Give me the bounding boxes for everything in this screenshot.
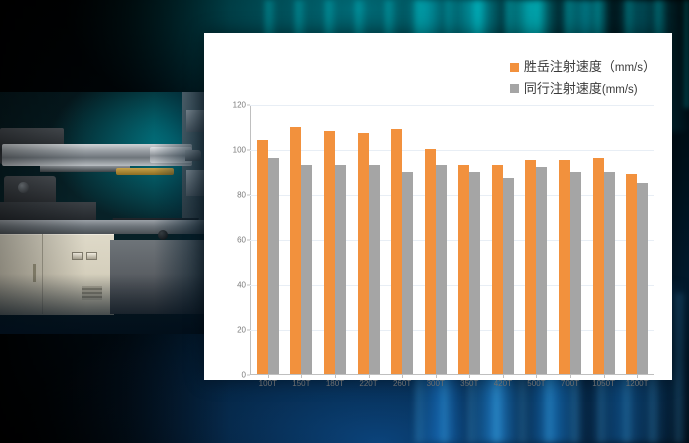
bar-group-container <box>251 105 654 374</box>
x-axis-label: 180T <box>318 379 352 388</box>
x-axis-label: 420T <box>486 379 520 388</box>
y-axis-tick-label: 80 <box>237 191 246 200</box>
bar-series2[interactable] <box>469 172 480 375</box>
bar-series1[interactable] <box>458 165 469 374</box>
bar-group <box>385 105 419 374</box>
bar-group <box>520 105 554 374</box>
bar-group <box>318 105 352 374</box>
chart-legend: 胜岳注射速度（mm/s） 同行注射速度(mm/s) <box>510 60 656 103</box>
bar-group <box>553 105 587 374</box>
x-axis-tick-mark <box>604 374 605 378</box>
bar-series2[interactable] <box>570 172 581 375</box>
bar-series2[interactable] <box>268 158 279 374</box>
y-axis-tick-mark <box>247 150 250 151</box>
legend-label-series-1-unit: mm/s <box>615 62 643 74</box>
legend-label-series-2: 同行注射速度(mm/s) <box>524 82 638 97</box>
legend-label-series-2-unit: (mm/s) <box>602 84 638 96</box>
bar-series2[interactable] <box>335 165 346 374</box>
x-axis-tick-mark <box>469 374 470 378</box>
bar-series1[interactable] <box>559 160 570 374</box>
legend-label-series-1-main: 胜岳注射速度（ <box>524 59 615 74</box>
bar-series2[interactable] <box>301 165 312 374</box>
y-axis-tick-mark <box>247 105 250 106</box>
y-axis-tick-mark <box>247 195 250 196</box>
bar-series1[interactable] <box>492 165 503 374</box>
bar-series2[interactable] <box>503 178 514 374</box>
x-axis-label: 260T <box>385 379 419 388</box>
y-axis-tick-label: 0 <box>242 371 246 380</box>
y-axis-tick-mark <box>247 240 250 241</box>
x-axis-tick-mark <box>301 374 302 378</box>
x-axis-label: 100T <box>251 379 285 388</box>
x-axis-tick-mark <box>335 374 336 378</box>
bar-series2[interactable] <box>604 172 615 375</box>
chart-panel: 胜岳注射速度（mm/s） 同行注射速度(mm/s) 02040608010012… <box>204 33 672 380</box>
x-axis-tick-mark <box>503 374 504 378</box>
bar-group <box>285 105 319 374</box>
bar-group <box>587 105 621 374</box>
x-axis-tick-mark <box>436 374 437 378</box>
x-axis-label: 350T <box>452 379 486 388</box>
bar-group <box>352 105 386 374</box>
bar-series1[interactable] <box>290 127 301 375</box>
x-axis-tick-mark <box>637 374 638 378</box>
x-axis-line <box>250 374 654 375</box>
bar-group <box>486 105 520 374</box>
y-axis-tick-mark <box>247 330 250 331</box>
bar-group <box>419 105 453 374</box>
x-axis-label: 150T <box>285 379 319 388</box>
y-axis-tick-label: 40 <box>237 281 246 290</box>
bar-series1[interactable] <box>324 131 335 374</box>
bar-group <box>620 105 654 374</box>
x-axis-label-group: 100T150T180T220T260T300T350T420T500T700T… <box>251 379 654 388</box>
x-axis-label: 1050T <box>587 379 621 388</box>
x-axis-label: 500T <box>520 379 554 388</box>
y-axis-tick-mark <box>247 375 250 376</box>
slide-stage: 胜岳注射速度（mm/s） 同行注射速度(mm/s) 02040608010012… <box>0 0 689 443</box>
bar-series2[interactable] <box>637 183 648 374</box>
legend-label-series-2-main: 同行注射速度 <box>524 81 602 96</box>
bar-group <box>452 105 486 374</box>
x-axis-label: 1200T <box>620 379 654 388</box>
x-axis-tick-mark <box>402 374 403 378</box>
y-axis-tick-mark <box>247 285 250 286</box>
bar-series2[interactable] <box>402 172 413 375</box>
injection-molding-machine-photo <box>0 92 214 334</box>
y-axis-tick-label: 60 <box>237 236 246 245</box>
legend-item-series-2: 同行注射速度(mm/s) <box>510 82 656 97</box>
bar-series2[interactable] <box>369 165 380 374</box>
x-axis-tick-mark <box>570 374 571 378</box>
bar-series1[interactable] <box>391 129 402 374</box>
x-axis-tick-mark <box>268 374 269 378</box>
bar-series1[interactable] <box>525 160 536 374</box>
bar-group <box>251 105 285 374</box>
photo-bottom-fade <box>0 274 214 334</box>
bar-series1[interactable] <box>626 174 637 374</box>
x-axis-tick-mark <box>536 374 537 378</box>
legend-label-series-1: 胜岳注射速度（mm/s） <box>524 60 656 75</box>
bar-series1[interactable] <box>425 149 436 374</box>
y-axis-tick-label: 20 <box>237 326 246 335</box>
bar-series2[interactable] <box>436 165 447 374</box>
legend-swatch-gray <box>510 84 519 93</box>
x-axis-tick-mark <box>369 374 370 378</box>
x-axis-label: 300T <box>419 379 453 388</box>
legend-item-series-1: 胜岳注射速度（mm/s） <box>510 60 656 75</box>
bar-series1[interactable] <box>593 158 604 374</box>
y-axis-tick-label: 120 <box>233 101 246 110</box>
bar-series2[interactable] <box>536 167 547 374</box>
bar-series1[interactable] <box>358 133 369 374</box>
chart-plot-area: 020406080100120 <box>250 105 654 375</box>
legend-label-series-1-tail: ） <box>643 59 656 74</box>
y-axis-tick-label: 100 <box>233 146 246 155</box>
bar-series1[interactable] <box>257 140 268 374</box>
legend-swatch-orange <box>510 63 519 72</box>
x-axis-label: 700T <box>553 379 587 388</box>
x-axis-label: 220T <box>352 379 386 388</box>
